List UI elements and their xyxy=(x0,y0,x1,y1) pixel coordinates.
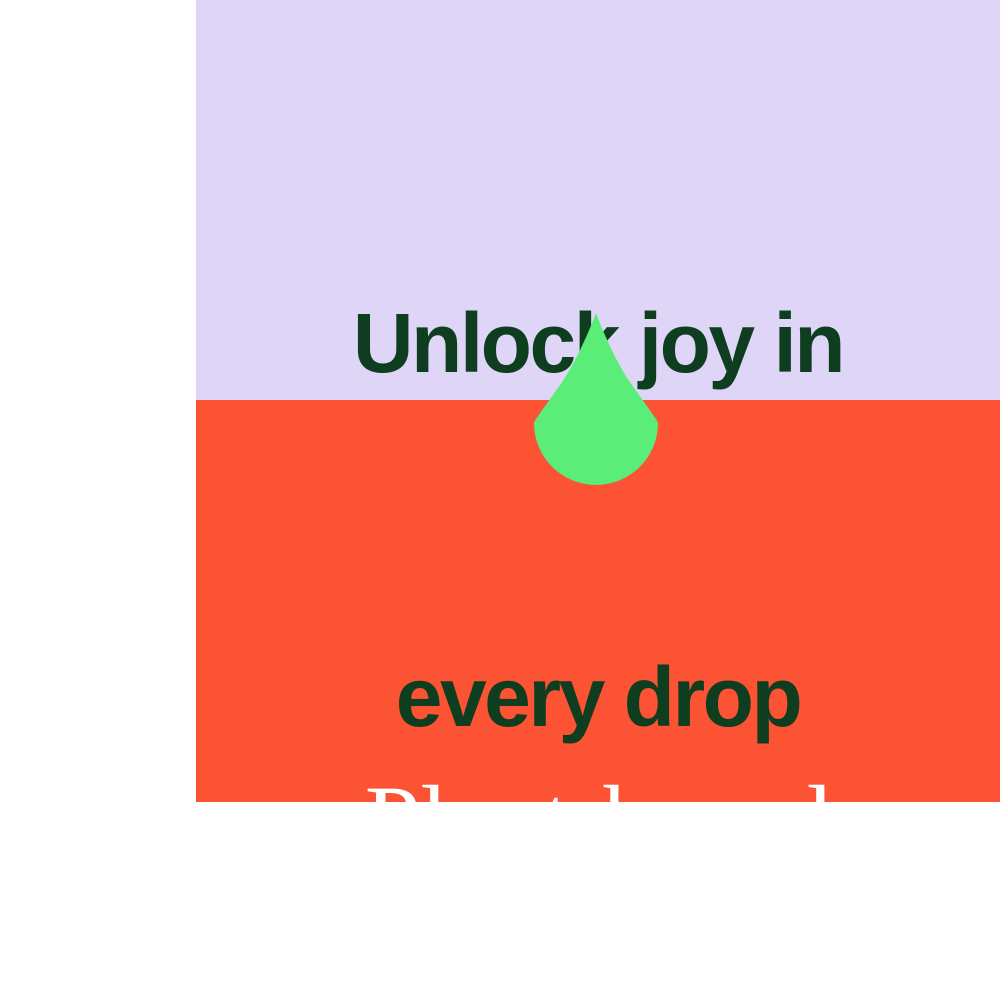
subheadline-line-1: Plant-based xyxy=(196,756,1000,802)
promo-poster: Unlock joy in every drop Plant-based eve… xyxy=(196,0,1000,802)
headline-line-1: Unlock joy in xyxy=(196,284,1000,402)
subheadline: Plant-based everyday bliss xyxy=(196,496,1000,802)
